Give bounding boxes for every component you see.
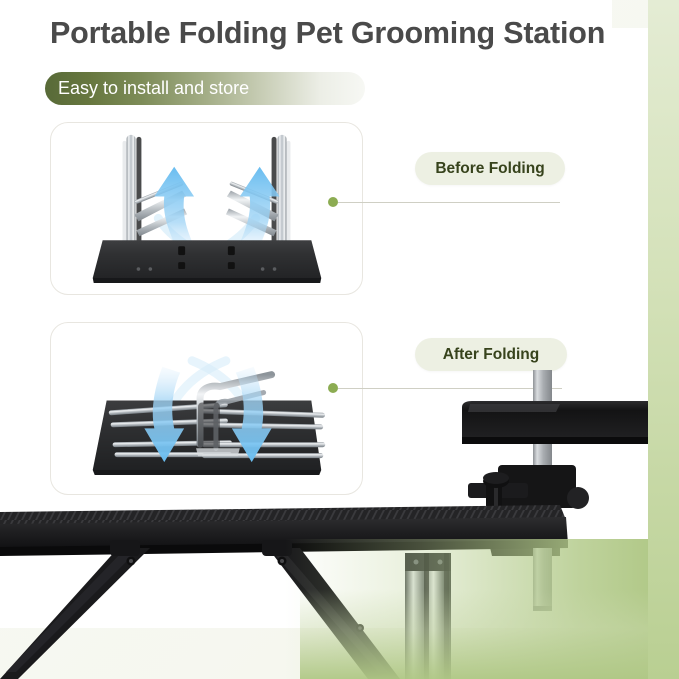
before-folding-illustration xyxy=(51,123,362,295)
background-green-right-band-front xyxy=(648,0,679,679)
callout-after-label: After Folding xyxy=(443,346,539,364)
product-marketing-image: Portable Folding Pet Grooming Station Ea… xyxy=(0,0,679,679)
connector-line-after xyxy=(338,388,562,389)
connector-dot-before xyxy=(328,197,338,207)
subtitle-badge-label: Easy to install and store xyxy=(58,78,249,99)
callout-before-label: Before Folding xyxy=(435,160,544,178)
background-green-bottom-glow xyxy=(300,589,679,679)
callout-before-folding: Before Folding xyxy=(415,152,565,185)
connector-dot-after xyxy=(328,383,338,393)
base-plate xyxy=(93,240,322,283)
callout-after-folding: After Folding xyxy=(415,338,567,371)
panel-after-folding xyxy=(50,322,363,495)
panel-before-folding xyxy=(50,122,363,295)
after-folding-illustration xyxy=(51,323,362,495)
page-title: Portable Folding Pet Grooming Station xyxy=(50,16,650,51)
connector-line-before xyxy=(338,202,560,203)
